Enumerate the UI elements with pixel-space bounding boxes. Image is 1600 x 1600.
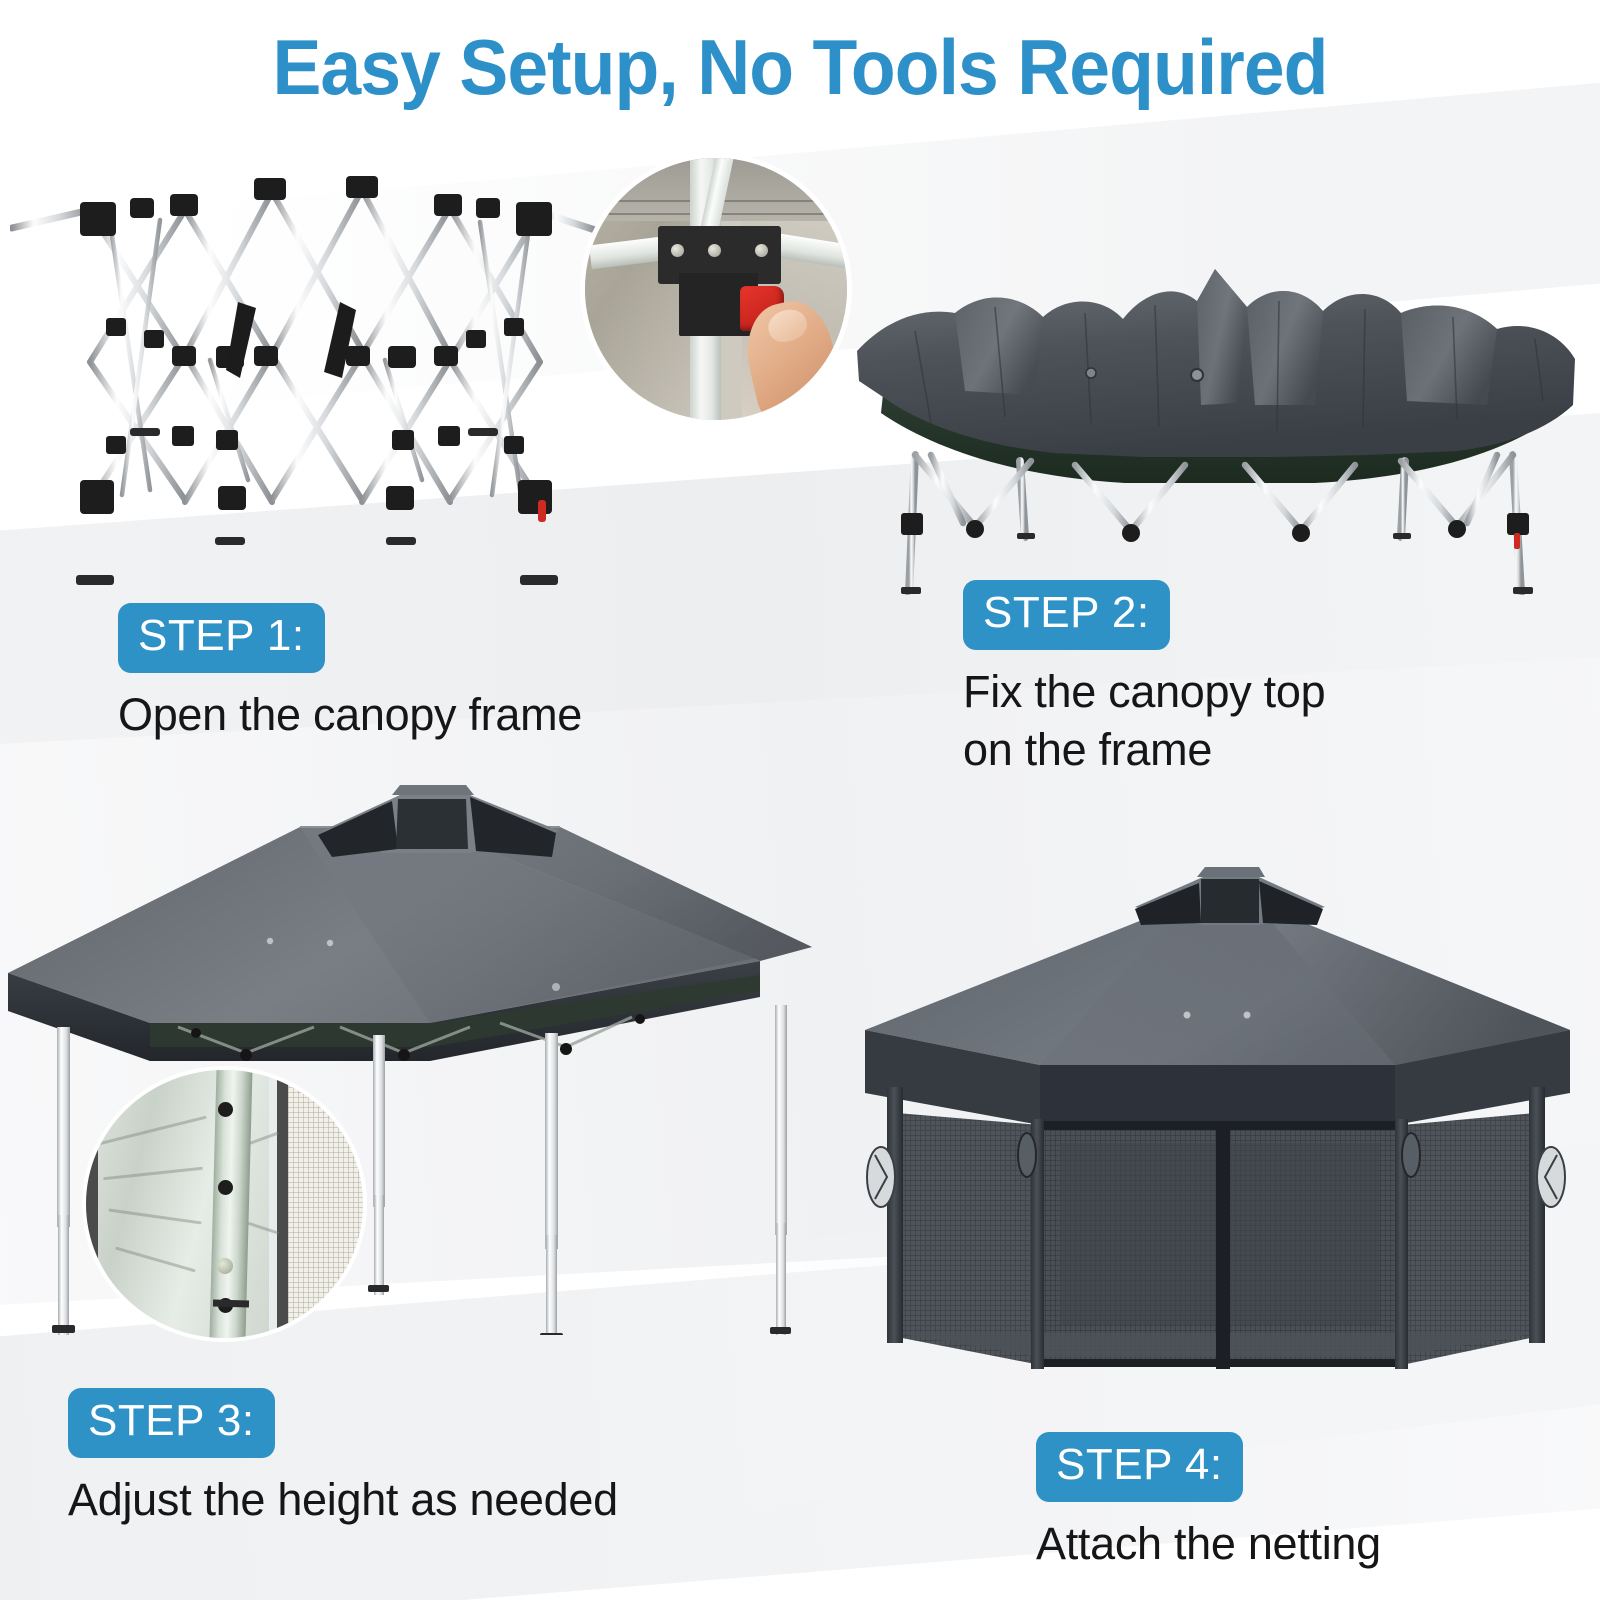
step-2-illustration <box>845 255 1585 595</box>
step-4-illustration <box>835 825 1600 1385</box>
release-button-inset <box>585 158 847 420</box>
canopy-top-on-frame-svg <box>845 255 1585 595</box>
infographic-page: Easy Setup, No Tools Required <box>0 0 1600 1600</box>
step-4-badge: STEP 4: <box>1036 1432 1243 1502</box>
step-4-text: Attach the netting <box>1036 1515 1381 1573</box>
step-1-text: Open the canopy frame <box>118 686 582 744</box>
leg-adjust-inset <box>86 1070 363 1338</box>
inset-fabric-edge-right <box>277 1070 288 1338</box>
step-2-badge: STEP 2: <box>963 580 1170 650</box>
leg-lock-pin <box>217 1258 233 1274</box>
step-4-caption: STEP 4: Attach the netting <box>1036 1432 1381 1573</box>
leg-adjust-hole <box>218 1102 233 1117</box>
canopy-frame-svg <box>10 150 620 590</box>
inset-mesh-panel <box>288 1070 363 1338</box>
step-1-badge: STEP 1: <box>118 603 325 673</box>
step-3-badge: STEP 3: <box>68 1388 275 1458</box>
step-2-text: Fix the canopy top on the frame <box>963 663 1325 778</box>
step-1-caption: STEP 1: Open the canopy frame <box>118 603 582 744</box>
page-title: Easy Setup, No Tools Required <box>48 22 1552 113</box>
gazebo-with-netting-svg <box>835 825 1600 1385</box>
inset-fabric-edge-left <box>86 1070 98 1338</box>
step-3-caption: STEP 3: Adjust the height as needed <box>68 1388 618 1529</box>
step-3-text: Adjust the height as needed <box>68 1471 618 1529</box>
leg-adjust-hole <box>218 1180 233 1195</box>
step-2-caption: STEP 2: Fix the canopy top on the frame <box>963 580 1325 778</box>
step-1-illustration <box>10 150 620 590</box>
